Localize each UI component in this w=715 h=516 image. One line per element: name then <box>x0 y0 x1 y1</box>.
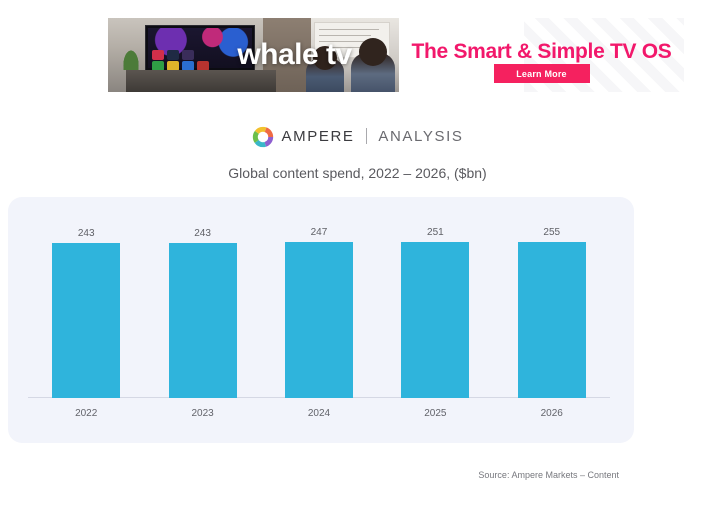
advertisement-banner[interactable]: whale tv The Smart & Simple TV OS Learn … <box>108 18 684 92</box>
x-label-2022: 2022 <box>28 408 144 419</box>
x-label-2023: 2023 <box>144 408 260 419</box>
ampere-analysis-logo: AMPERE ANALYSIS <box>0 126 715 148</box>
ampere-sub: ANALYSIS <box>378 128 463 145</box>
ampere-wordmark: AMPERE ANALYSIS <box>282 128 464 146</box>
learn-more-button[interactable]: Learn More <box>494 64 590 83</box>
bar-value-label: 251 <box>427 227 444 238</box>
bar-2024[interactable] <box>285 242 353 398</box>
ad-photo <box>108 18 399 92</box>
x-label-2024: 2024 <box>261 408 377 419</box>
ampere-name: AMPERE <box>282 128 355 145</box>
ampere-donut-icon <box>252 126 274 148</box>
bar-2025[interactable] <box>401 242 469 398</box>
x-label-2025: 2025 <box>377 408 493 419</box>
chart-plot-area: 243243247251255 20222023202420252026 <box>28 227 610 435</box>
bar-slot: 251 <box>377 227 493 398</box>
ad-photo-person-2-head <box>359 38 387 66</box>
ad-photo-tv-screen <box>148 28 252 68</box>
ad-photo-plant <box>122 48 140 70</box>
bar-slot: 243 <box>28 227 144 398</box>
ad-headline: The Smart & Simple TV OS <box>399 40 684 64</box>
bar-slot: 243 <box>144 227 260 398</box>
bar-value-label: 243 <box>78 228 95 239</box>
x-axis-labels: 20222023202420252026 <box>28 403 610 423</box>
chart-source-note: Source: Ampere Markets – Content <box>478 470 619 480</box>
ad-photo-person-1-head <box>313 46 337 70</box>
bar-2026[interactable] <box>518 242 586 398</box>
bar-slot: 255 <box>494 227 610 398</box>
bar-value-label: 243 <box>194 228 211 239</box>
bar-2022[interactable] <box>52 243 120 398</box>
bar-value-label: 247 <box>311 227 328 238</box>
bar-slot: 247 <box>261 227 377 398</box>
bar-series: 243243247251255 <box>28 227 610 398</box>
wordmark-divider <box>366 128 367 144</box>
ad-photo-tv <box>145 25 255 71</box>
chart-panel: 243243247251255 20222023202420252026 <box>8 197 634 443</box>
ad-photo-tv-stand <box>126 70 276 92</box>
chart-title: Global content spend, 2022 – 2026, ($bn) <box>0 165 715 181</box>
ad-message-panel: The Smart & Simple TV OS Learn More <box>399 18 684 92</box>
x-label-2026: 2026 <box>494 408 610 419</box>
bar-value-label: 255 <box>543 227 560 238</box>
bar-2023[interactable] <box>169 243 237 398</box>
